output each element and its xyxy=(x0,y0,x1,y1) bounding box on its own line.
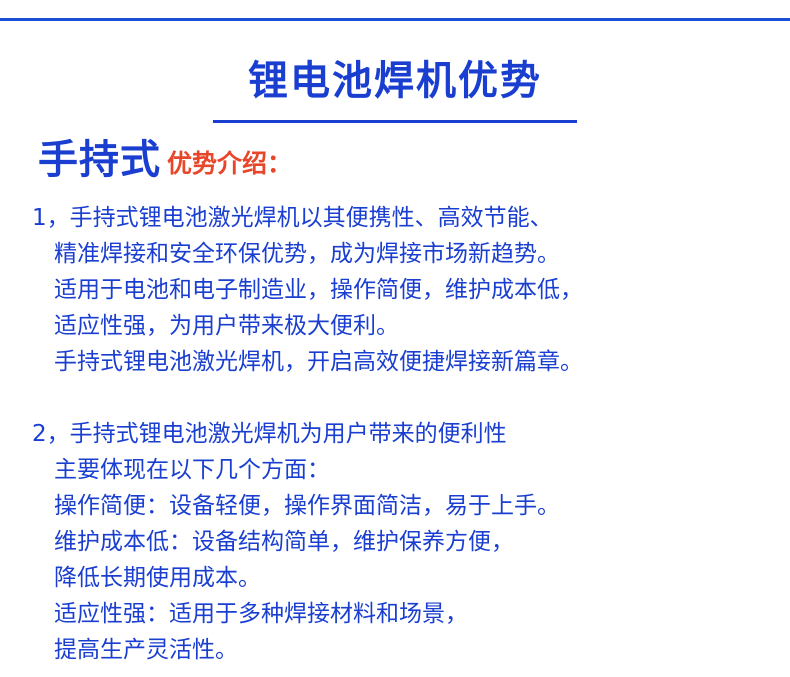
top-divider xyxy=(0,18,790,21)
section-label: 手持式 xyxy=(38,140,161,180)
paragraph-line: 主要体现在以下几个方面： xyxy=(32,452,772,488)
paragraph-line: 提高生产灵活性。 xyxy=(32,632,772,668)
section-heading: 手持式 优势介绍： xyxy=(38,140,292,180)
paragraph-line: 操作简便：设备轻便，操作界面简洁，易于上手。 xyxy=(32,488,772,524)
paragraph-line: 2，手持式锂电池激光焊机为用户带来的便利性 xyxy=(32,416,772,452)
paragraph-line: 手持式锂电池激光焊机，开启高效便捷焊接新篇章。 xyxy=(32,344,772,380)
promo-page: 锂电池焊机优势 手持式 优势介绍： 1，手持式锂电池激光焊机以其便携性、高效节能… xyxy=(0,0,790,677)
paragraph-line: 降低长期使用成本。 xyxy=(32,560,772,596)
paragraph-line: 1，手持式锂电池激光焊机以其便携性、高效节能、 xyxy=(32,200,772,236)
section-subtitle: 优势介绍： xyxy=(167,151,292,180)
title-underline xyxy=(213,120,577,123)
paragraph-one: 1，手持式锂电池激光焊机以其便携性、高效节能、 精准焊接和安全环保优势，成为焊接… xyxy=(32,200,772,380)
paragraph-line: 适用于电池和电子制造业，操作简便，维护成本低， xyxy=(32,272,772,308)
paragraph-two: 2，手持式锂电池激光焊机为用户带来的便利性 主要体现在以下几个方面： 操作简便：… xyxy=(32,416,772,668)
paragraph-line: 适应性强：适用于多种焊接材料和场景， xyxy=(32,596,772,632)
page-title: 锂电池焊机优势 xyxy=(0,58,790,104)
paragraph-line: 精准焊接和安全环保优势，成为焊接市场新趋势。 xyxy=(32,236,772,272)
paragraph-line: 适应性强，为用户带来极大便利。 xyxy=(32,308,772,344)
paragraph-line: 维护成本低：设备结构简单，维护保养方便， xyxy=(32,524,772,560)
